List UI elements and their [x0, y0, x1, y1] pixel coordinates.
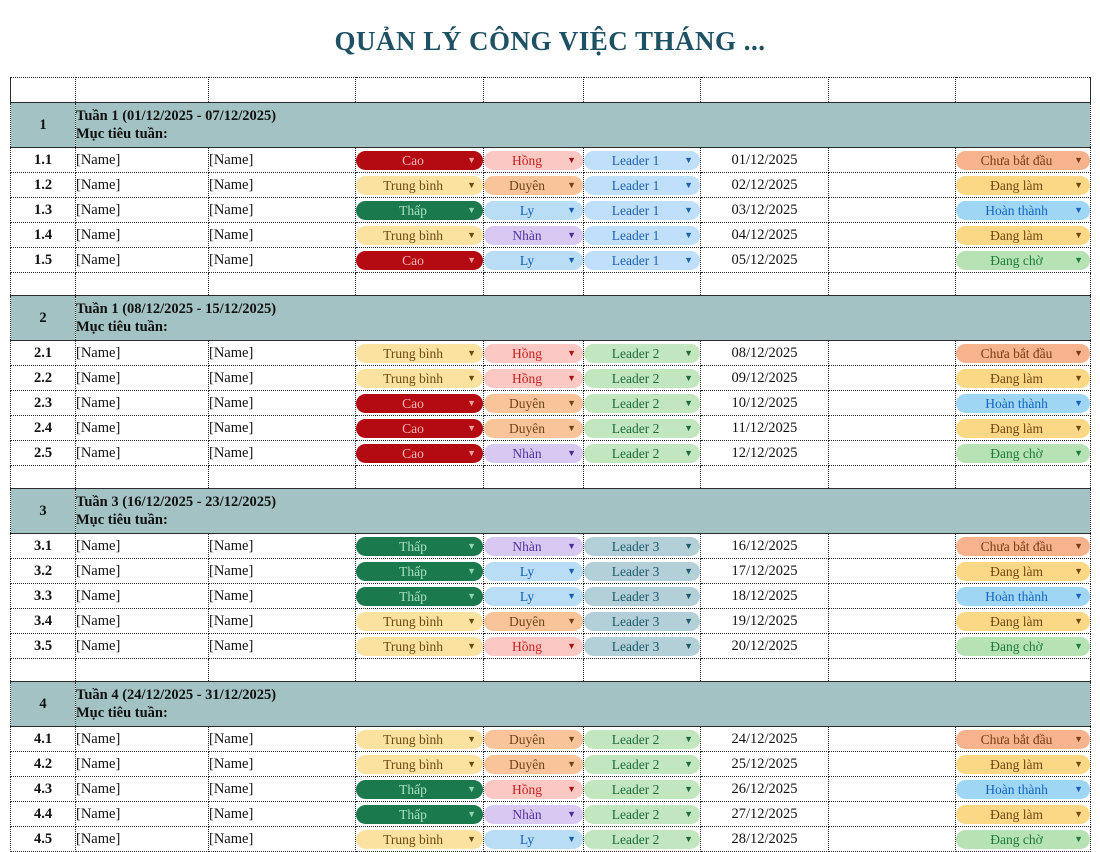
support-person-dropdown[interactable]: Leader 1▼ — [584, 226, 700, 245]
support-person-dropdown[interactable]: Leader 1▼ — [584, 201, 700, 220]
chevron-down-icon[interactable]: ▼ — [1070, 612, 1083, 631]
cell-start-date[interactable]: 16/12/2025 — [701, 534, 829, 559]
pic-dropdown[interactable]: Ly▼ — [484, 587, 583, 606]
pic-dropdown[interactable]: Nhàn▼ — [484, 805, 583, 824]
status-dropdown[interactable]: Đang làm▼ — [956, 176, 1090, 195]
status-dropdown[interactable]: Hoàn thành▼ — [956, 201, 1090, 220]
table-row[interactable]: 3.3[Name][Name]Thấp▼Ly▼Leader 3▼18/12/20… — [11, 584, 1091, 609]
chevron-down-icon[interactable]: ▼ — [563, 612, 576, 631]
status-dropdown[interactable]: Đang làm▼ — [956, 226, 1090, 245]
pic-dropdown[interactable]: Duyên▼ — [484, 394, 583, 413]
cell-end-date[interactable] — [829, 366, 956, 391]
chevron-down-icon[interactable]: ▼ — [463, 805, 476, 824]
chevron-down-icon[interactable]: ▼ — [680, 251, 693, 270]
priority-dropdown[interactable]: Thấp▼ — [356, 805, 483, 824]
chevron-down-icon[interactable]: ▼ — [563, 251, 576, 270]
chevron-down-icon[interactable]: ▼ — [563, 805, 576, 824]
cell-start-date[interactable]: 24/12/2025 — [701, 727, 829, 752]
cell-noi-dung[interactable]: [Name] — [209, 752, 356, 777]
cell-end-date[interactable] — [829, 609, 956, 634]
cell-end-date[interactable] — [829, 441, 956, 466]
cell-start-date[interactable]: 19/12/2025 — [701, 609, 829, 634]
table-row[interactable]: 2.4[Name][Name]Cao▼Duyên▼Leader 2▼11/12/… — [11, 416, 1091, 441]
priority-dropdown[interactable]: Trung bình▼ — [356, 612, 483, 631]
spacer-row — [11, 273, 1091, 296]
cell-hang-muc[interactable]: [Name] — [76, 727, 209, 752]
priority-dropdown[interactable]: Trung bình▼ — [356, 755, 483, 774]
cell-hang-muc[interactable]: [Name] — [76, 416, 209, 441]
cell-status: Đang chờ▼ — [956, 634, 1091, 659]
chevron-down-icon[interactable]: ▼ — [563, 419, 576, 438]
chevron-down-icon[interactable]: ▼ — [1070, 394, 1083, 413]
cell-hang-muc[interactable]: [Name] — [76, 827, 209, 852]
table-row[interactable]: 1.5[Name][Name]Cao▼Ly▼Leader 1▼05/12/202… — [11, 248, 1091, 273]
cell-end-date[interactable] — [829, 173, 956, 198]
cell-end-date[interactable] — [829, 534, 956, 559]
priority-dropdown[interactable]: Cao▼ — [356, 394, 483, 413]
cell-end-date[interactable] — [829, 559, 956, 584]
priority-dropdown[interactable]: Cao▼ — [356, 419, 483, 438]
priority-dropdown[interactable]: Cao▼ — [356, 151, 483, 170]
cell-hang-muc[interactable]: [Name] — [76, 609, 209, 634]
pic-dropdown[interactable]: Ly▼ — [484, 201, 583, 220]
spacer-cell — [956, 659, 1091, 682]
support-person-dropdown[interactable]: Leader 3▼ — [584, 537, 700, 556]
priority-dropdown[interactable]: Cao▼ — [356, 251, 483, 270]
cell-hang-muc[interactable]: [Name] — [76, 173, 209, 198]
chevron-down-icon[interactable]: ▼ — [463, 344, 476, 363]
chevron-down-icon[interactable]: ▼ — [680, 419, 693, 438]
cell-noi-dung[interactable]: [Name] — [209, 559, 356, 584]
status-dropdown[interactable]: Đang chờ▼ — [956, 251, 1090, 270]
cell-start-date[interactable]: 10/12/2025 — [701, 391, 829, 416]
cell-hang-muc[interactable]: [Name] — [76, 248, 209, 273]
status-dropdown[interactable]: Hoàn thành▼ — [956, 587, 1090, 606]
chevron-down-icon[interactable]: ▼ — [1070, 369, 1083, 388]
cell-noi-dung[interactable]: [Name] — [209, 777, 356, 802]
chevron-down-icon[interactable]: ▼ — [1070, 151, 1083, 170]
table-row[interactable]: 1.2[Name][Name]Trung bình▼Duyên▼Leader 1… — [11, 173, 1091, 198]
cell-end-date[interactable] — [829, 584, 956, 609]
status-dropdown[interactable]: Đang chờ▼ — [956, 637, 1090, 656]
cell-hang-muc[interactable]: [Name] — [76, 752, 209, 777]
cell-noi-dung[interactable]: [Name] — [209, 441, 356, 466]
support-person-dropdown[interactable]: Leader 1▼ — [584, 151, 700, 170]
chevron-down-icon[interactable]: ▼ — [1070, 637, 1083, 656]
chevron-down-icon[interactable]: ▼ — [680, 805, 693, 824]
cell-end-date[interactable] — [829, 341, 956, 366]
cell-noi-dung[interactable]: [Name] — [209, 416, 356, 441]
spacer-cell — [584, 466, 701, 489]
table-row[interactable]: 2.5[Name][Name]Cao▼Nhàn▼Leader 2▼12/12/2… — [11, 441, 1091, 466]
chevron-down-icon[interactable]: ▼ — [680, 201, 693, 220]
chevron-down-icon[interactable]: ▼ — [463, 755, 476, 774]
support-person-dropdown[interactable]: Leader 3▼ — [584, 562, 700, 581]
pic-dropdown-label: Duyên — [491, 755, 563, 774]
chevron-down-icon[interactable]: ▼ — [680, 730, 693, 749]
cell-start-date[interactable]: 11/12/2025 — [701, 416, 829, 441]
cell-start-date[interactable]: 01/12/2025 — [701, 148, 829, 173]
cell-noi-dung[interactable]: [Name] — [209, 727, 356, 752]
status-dropdown[interactable]: Đang chờ▼ — [956, 830, 1090, 849]
cell-noi-dung[interactable]: [Name] — [209, 198, 356, 223]
support-person-dropdown[interactable]: Leader 1▼ — [584, 176, 700, 195]
cell-hang-muc[interactable]: [Name] — [76, 223, 209, 248]
support-person-dropdown[interactable]: Leader 2▼ — [584, 780, 700, 799]
support-person-dropdown-label: Leader 1 — [591, 251, 680, 270]
priority-dropdown-label: Trung bình — [363, 226, 463, 245]
cell-start-date[interactable]: 17/12/2025 — [701, 559, 829, 584]
chevron-down-icon[interactable]: ▼ — [463, 562, 476, 581]
cell-start-date[interactable]: 03/12/2025 — [701, 198, 829, 223]
pic-dropdown[interactable]: Hồng▼ — [484, 344, 583, 363]
pic-dropdown[interactable]: Duyên▼ — [484, 730, 583, 749]
chevron-down-icon[interactable]: ▼ — [1070, 251, 1083, 270]
table-row[interactable]: 1.1[Name][Name]Cao▼Hồng▼Leader 1▼01/12/2… — [11, 148, 1091, 173]
chevron-down-icon[interactable]: ▼ — [1070, 344, 1083, 363]
support-person-dropdown[interactable]: Leader 2▼ — [584, 830, 700, 849]
cell-hang-muc[interactable]: [Name] — [76, 198, 209, 223]
pic-dropdown[interactable]: Nhàn▼ — [484, 226, 583, 245]
chevron-down-icon[interactable]: ▼ — [563, 637, 576, 656]
cell-start-date[interactable]: 27/12/2025 — [701, 802, 829, 827]
cell-start-date[interactable]: 02/12/2025 — [701, 173, 829, 198]
chevron-down-icon[interactable]: ▼ — [1070, 587, 1083, 606]
table-row[interactable]: 3.1[Name][Name]Thấp▼Nhàn▼Leader 3▼16/12/… — [11, 534, 1091, 559]
chevron-down-icon[interactable]: ▼ — [1070, 444, 1083, 463]
chevron-down-icon[interactable]: ▼ — [463, 226, 476, 245]
pic-dropdown[interactable]: Ly▼ — [484, 562, 583, 581]
chevron-down-icon[interactable]: ▼ — [680, 344, 693, 363]
cell-priority: Trung bình▼ — [356, 341, 484, 366]
table-row[interactable]: 2.3[Name][Name]Cao▼Duyên▼Leader 2▼10/12/… — [11, 391, 1091, 416]
chevron-down-icon[interactable]: ▼ — [463, 176, 476, 195]
support-person-dropdown[interactable]: Leader 3▼ — [584, 612, 700, 631]
pic-dropdown[interactable]: Hồng▼ — [484, 369, 583, 388]
chevron-down-icon[interactable]: ▼ — [680, 612, 693, 631]
column-header-stt[interactable]: STT — [11, 78, 76, 103]
cell-start-date[interactable]: 28/12/2025 — [701, 827, 829, 852]
support-person-dropdown[interactable]: Leader 2▼ — [584, 344, 700, 363]
cell-hang-muc[interactable]: [Name] — [76, 634, 209, 659]
cell-start-date[interactable]: 18/12/2025 — [701, 584, 829, 609]
table-row[interactable]: 4.1[Name][Name]Trung bình▼Duyên▼Leader 2… — [11, 727, 1091, 752]
cell-end-date[interactable] — [829, 248, 956, 273]
chevron-down-icon[interactable]: ▼ — [563, 562, 576, 581]
cell-start-date[interactable]: 05/12/2025 — [701, 248, 829, 273]
chevron-down-icon[interactable]: ▼ — [1070, 730, 1083, 749]
pic-dropdown-label: Nhàn — [491, 805, 563, 824]
chevron-down-icon[interactable]: ▼ — [680, 755, 693, 774]
chevron-down-icon[interactable]: ▼ — [463, 151, 476, 170]
column-header-muc-do-uu-tien[interactable]: Mức độ ưu tiên — [356, 78, 484, 103]
cell-hang-muc[interactable]: [Name] — [76, 584, 209, 609]
cell-end-date[interactable] — [829, 148, 956, 173]
chevron-down-icon[interactable]: ▼ — [463, 394, 476, 413]
priority-dropdown[interactable]: Trung bình▼ — [356, 730, 483, 749]
chevron-down-icon[interactable]: ▼ — [563, 226, 576, 245]
week-title-cell[interactable]: Tuần 1 (08/12/2025 - 15/12/2025)Mục tiêu… — [76, 296, 1091, 341]
chevron-down-icon[interactable]: ▼ — [680, 151, 693, 170]
pic-dropdown[interactable]: Ly▼ — [484, 830, 583, 849]
chevron-down-icon[interactable]: ▼ — [563, 369, 576, 388]
cell-end-date[interactable] — [829, 752, 956, 777]
priority-dropdown[interactable]: Trung bình▼ — [356, 226, 483, 245]
cell-noi-dung[interactable]: [Name] — [209, 827, 356, 852]
chevron-down-icon[interactable]: ▼ — [563, 830, 576, 849]
chevron-down-icon[interactable]: ▼ — [680, 369, 693, 388]
support-person-dropdown-label: Leader 2 — [591, 755, 680, 774]
chevron-down-icon[interactable]: ▼ — [680, 176, 693, 195]
support-person-dropdown-label: Leader 1 — [591, 176, 680, 195]
chevron-down-icon[interactable]: ▼ — [463, 419, 476, 438]
table-row[interactable]: 1.4[Name][Name]Trung bình▼Nhàn▼Leader 1▼… — [11, 223, 1091, 248]
chevron-down-icon[interactable]: ▼ — [1070, 201, 1083, 220]
status-dropdown[interactable]: Đang làm▼ — [956, 369, 1090, 388]
cell-start-date[interactable]: 09/12/2025 — [701, 366, 829, 391]
status-dropdown[interactable]: Hoàn thành▼ — [956, 394, 1090, 413]
chevron-down-icon[interactable]: ▼ — [680, 394, 693, 413]
support-person-dropdown[interactable]: Leader 1▼ — [584, 251, 700, 270]
chevron-down-icon[interactable]: ▼ — [680, 830, 693, 849]
chevron-down-icon[interactable]: ▼ — [563, 537, 576, 556]
chevron-down-icon[interactable]: ▼ — [463, 444, 476, 463]
support-person-dropdown[interactable]: Leader 3▼ — [584, 587, 700, 606]
table-row[interactable]: 2.2[Name][Name]Trung bình▼Hồng▼Leader 2▼… — [11, 366, 1091, 391]
support-person-dropdown[interactable]: Leader 2▼ — [584, 805, 700, 824]
support-person-dropdown-label: Leader 1 — [591, 151, 680, 170]
cell-noi-dung[interactable]: [Name] — [209, 609, 356, 634]
priority-dropdown[interactable]: Thấp▼ — [356, 587, 483, 606]
column-header-noi-dung[interactable]: Nội dung công việc — [209, 78, 356, 103]
column-header-nguoi-ho-tro[interactable]: Người hỗ trợ — [584, 78, 701, 103]
cell-noi-dung[interactable]: [Name] — [209, 173, 356, 198]
cell-priority: Thấp▼ — [356, 802, 484, 827]
cell-end-date[interactable] — [829, 198, 956, 223]
column-header-ngay-bat-dau[interactable]: Ngày bắt đầu — [701, 78, 829, 103]
chevron-down-icon[interactable]: ▼ — [563, 730, 576, 749]
priority-dropdown[interactable]: Thấp▼ — [356, 201, 483, 220]
chevron-down-icon[interactable]: ▼ — [463, 251, 476, 270]
pic-dropdown[interactable]: Ly▼ — [484, 251, 583, 270]
table-row[interactable]: 2.1[Name][Name]Trung bình▼Hồng▼Leader 2▼… — [11, 341, 1091, 366]
priority-dropdown[interactable]: Trung bình▼ — [356, 369, 483, 388]
status-dropdown[interactable]: Đang làm▼ — [956, 419, 1090, 438]
chevron-down-icon[interactable]: ▼ — [563, 587, 576, 606]
cell-start-date[interactable]: 26/12/2025 — [701, 777, 829, 802]
cell-noi-dung[interactable]: [Name] — [209, 148, 356, 173]
chevron-down-icon[interactable]: ▼ — [563, 201, 576, 220]
cell-end-date[interactable] — [829, 634, 956, 659]
chevron-down-icon[interactable]: ▼ — [563, 176, 576, 195]
cell-status: Đang làm▼ — [956, 609, 1091, 634]
chevron-down-icon[interactable]: ▼ — [680, 537, 693, 556]
priority-dropdown[interactable]: Trung bình▼ — [356, 176, 483, 195]
column-header-trang-thai[interactable]: Trạng thái — [956, 78, 1091, 103]
chevron-down-icon[interactable]: ▼ — [563, 444, 576, 463]
pic-dropdown[interactable]: Duyên▼ — [484, 419, 583, 438]
chevron-down-icon[interactable]: ▼ — [563, 755, 576, 774]
pic-dropdown[interactable]: Duyên▼ — [484, 755, 583, 774]
cell-noi-dung[interactable]: [Name] — [209, 223, 356, 248]
cell-end-date[interactable] — [829, 827, 956, 852]
cell-hang-muc[interactable]: [Name] — [76, 802, 209, 827]
table-row[interactable]: 3.4[Name][Name]Trung bình▼Duyên▼Leader 3… — [11, 609, 1091, 634]
chevron-down-icon[interactable]: ▼ — [1070, 755, 1083, 774]
cell-hang-muc[interactable]: [Name] — [76, 441, 209, 466]
chevron-down-icon[interactable]: ▼ — [463, 587, 476, 606]
priority-dropdown[interactable]: Trung bình▼ — [356, 344, 483, 363]
support-person-dropdown[interactable]: Leader 2▼ — [584, 394, 700, 413]
spacer-row — [11, 659, 1091, 682]
chevron-down-icon[interactable]: ▼ — [563, 344, 576, 363]
chevron-down-icon[interactable]: ▼ — [1070, 176, 1083, 195]
cell-noi-dung[interactable]: [Name] — [209, 366, 356, 391]
cell-noi-dung[interactable]: [Name] — [209, 802, 356, 827]
chevron-down-icon[interactable]: ▼ — [463, 201, 476, 220]
cell-end-date[interactable] — [829, 223, 956, 248]
chevron-down-icon[interactable]: ▼ — [463, 830, 476, 849]
table-row[interactable]: 4.5[Name][Name]Trung bình▼Ly▼Leader 2▼28… — [11, 827, 1091, 852]
week-title-cell[interactable]: Tuần 1 (01/12/2025 - 07/12/2025)Mục tiêu… — [76, 103, 1091, 148]
cell-end-date[interactable] — [829, 727, 956, 752]
chevron-down-icon[interactable]: ▼ — [563, 151, 576, 170]
priority-dropdown-label: Thấp — [363, 805, 463, 824]
table-row[interactable]: 3.2[Name][Name]Thấp▼Ly▼Leader 3▼17/12/20… — [11, 559, 1091, 584]
status-dropdown[interactable]: Đang làm▼ — [956, 755, 1090, 774]
cell-noi-dung[interactable]: [Name] — [209, 248, 356, 273]
week-title-cell[interactable]: Tuần 3 (16/12/2025 - 23/12/2025)Mục tiêu… — [76, 489, 1091, 534]
cell-leader: Leader 3▼ — [584, 584, 701, 609]
chevron-down-icon[interactable]: ▼ — [680, 780, 693, 799]
priority-dropdown[interactable]: Thấp▼ — [356, 562, 483, 581]
chevron-down-icon[interactable]: ▼ — [680, 587, 693, 606]
cell-start-date[interactable]: 08/12/2025 — [701, 341, 829, 366]
pic-dropdown-label: Ly — [491, 587, 563, 606]
status-dropdown[interactable]: Đang làm▼ — [956, 612, 1090, 631]
pic-dropdown[interactable]: Hồng▼ — [484, 780, 583, 799]
chevron-down-icon[interactable]: ▼ — [463, 730, 476, 749]
priority-dropdown-label: Trung bình — [363, 730, 463, 749]
column-header-pic[interactable]: PIC — [484, 78, 584, 103]
cell-end-date[interactable] — [829, 802, 956, 827]
priority-dropdown[interactable]: Trung bình▼ — [356, 830, 483, 849]
pic-dropdown[interactable]: Hồng▼ — [484, 637, 583, 656]
chevron-down-icon[interactable]: ▼ — [1070, 780, 1083, 799]
status-dropdown[interactable]: Đang chờ▼ — [956, 444, 1090, 463]
status-dropdown[interactable]: Chưa bắt đầu▼ — [956, 344, 1090, 363]
cell-noi-dung[interactable]: [Name] — [209, 584, 356, 609]
status-dropdown[interactable]: Chưa bắt đầu▼ — [956, 537, 1090, 556]
chevron-down-icon[interactable]: ▼ — [1070, 537, 1083, 556]
cell-end-date[interactable] — [829, 777, 956, 802]
support-person-dropdown[interactable]: Leader 2▼ — [584, 444, 700, 463]
cell-hang-muc[interactable]: [Name] — [76, 534, 209, 559]
cell-hang-muc[interactable]: [Name] — [76, 341, 209, 366]
cell-hang-muc[interactable]: [Name] — [76, 391, 209, 416]
status-dropdown[interactable]: Đang làm▼ — [956, 562, 1090, 581]
chevron-down-icon[interactable]: ▼ — [463, 780, 476, 799]
cell-end-date[interactable] — [829, 416, 956, 441]
cell-pic: Ly▼ — [484, 248, 584, 273]
chevron-down-icon[interactable]: ▼ — [563, 394, 576, 413]
table-row[interactable]: 4.2[Name][Name]Trung bình▼Duyên▼Leader 2… — [11, 752, 1091, 777]
cell-noi-dung[interactable]: [Name] — [209, 634, 356, 659]
pic-dropdown[interactable]: Duyên▼ — [484, 176, 583, 195]
priority-dropdown[interactable]: Cao▼ — [356, 444, 483, 463]
cell-start-date[interactable]: 20/12/2025 — [701, 634, 829, 659]
status-dropdown-label: Đang làm — [963, 369, 1070, 388]
chevron-down-icon[interactable]: ▼ — [563, 780, 576, 799]
cell-end-date[interactable] — [829, 391, 956, 416]
support-person-dropdown[interactable]: Leader 2▼ — [584, 369, 700, 388]
cell-start-date[interactable]: 25/12/2025 — [701, 752, 829, 777]
pic-dropdown[interactable]: Hồng▼ — [484, 151, 583, 170]
chevron-down-icon[interactable]: ▼ — [680, 562, 693, 581]
status-dropdown[interactable]: Hoàn thành▼ — [956, 780, 1090, 799]
priority-dropdown-label: Trung bình — [363, 755, 463, 774]
column-header-hang-muc[interactable]: Hạng mục — [76, 78, 209, 103]
pic-dropdown[interactable]: Duyên▼ — [484, 612, 583, 631]
spacer-cell — [76, 466, 209, 489]
support-person-dropdown[interactable]: Leader 3▼ — [584, 637, 700, 656]
chevron-down-icon[interactable]: ▼ — [1070, 419, 1083, 438]
support-person-dropdown[interactable]: Leader 2▼ — [584, 730, 700, 749]
status-dropdown-label: Đang chờ — [963, 251, 1070, 270]
priority-dropdown[interactable]: Thấp▼ — [356, 780, 483, 799]
status-dropdown[interactable]: Chưa bắt đầu▼ — [956, 151, 1090, 170]
priority-dropdown[interactable]: Thấp▼ — [356, 537, 483, 556]
support-person-dropdown-label: Leader 3 — [591, 562, 680, 581]
cell-leader: Leader 2▼ — [584, 802, 701, 827]
table-row[interactable]: 1.3[Name][Name]Thấp▼Ly▼Leader 1▼03/12/20… — [11, 198, 1091, 223]
chevron-down-icon[interactable]: ▼ — [680, 444, 693, 463]
chevron-down-icon[interactable]: ▼ — [1070, 226, 1083, 245]
cell-noi-dung[interactable]: [Name] — [209, 341, 356, 366]
status-dropdown[interactable]: Đang làm▼ — [956, 805, 1090, 824]
cell-start-date[interactable]: 04/12/2025 — [701, 223, 829, 248]
cell-start-date[interactable]: 12/12/2025 — [701, 441, 829, 466]
table-row[interactable]: 4.4[Name][Name]Thấp▼Nhàn▼Leader 2▼27/12/… — [11, 802, 1091, 827]
chevron-down-icon[interactable]: ▼ — [463, 537, 476, 556]
chevron-down-icon[interactable]: ▼ — [463, 369, 476, 388]
chevron-down-icon[interactable]: ▼ — [1070, 830, 1083, 849]
chevron-down-icon[interactable]: ▼ — [1070, 562, 1083, 581]
week-title-cell[interactable]: Tuần 4 (24/12/2025 - 31/12/2025)Mục tiêu… — [76, 682, 1091, 727]
cell-hang-muc[interactable]: [Name] — [76, 559, 209, 584]
chevron-down-icon[interactable]: ▼ — [463, 612, 476, 631]
cell-hang-muc[interactable]: [Name] — [76, 148, 209, 173]
chevron-down-icon[interactable]: ▼ — [680, 226, 693, 245]
support-person-dropdown[interactable]: Leader 2▼ — [584, 419, 700, 438]
chevron-down-icon[interactable]: ▼ — [680, 637, 693, 656]
cell-noi-dung[interactable]: [Name] — [209, 391, 356, 416]
table-row[interactable]: 3.5[Name][Name]Trung bình▼Hồng▼Leader 3▼… — [11, 634, 1091, 659]
pic-dropdown[interactable]: Nhàn▼ — [484, 537, 583, 556]
status-dropdown[interactable]: Chưa bắt đầu▼ — [956, 730, 1090, 749]
support-person-dropdown[interactable]: Leader 2▼ — [584, 755, 700, 774]
chevron-down-icon[interactable]: ▼ — [463, 637, 476, 656]
cell-noi-dung[interactable]: [Name] — [209, 534, 356, 559]
cell-pic: Hồng▼ — [484, 341, 584, 366]
chevron-down-icon[interactable]: ▼ — [1070, 805, 1083, 824]
cell-hang-muc[interactable]: [Name] — [76, 366, 209, 391]
priority-dropdown[interactable]: Trung bình▼ — [356, 637, 483, 656]
pic-dropdown[interactable]: Nhàn▼ — [484, 444, 583, 463]
column-header-ngay-ket-thuc[interactable]: Ngày kết thúc — [829, 78, 956, 103]
cell-hang-muc[interactable]: [Name] — [76, 777, 209, 802]
table-row[interactable]: 4.3[Name][Name]Thấp▼Hồng▼Leader 2▼26/12/… — [11, 777, 1091, 802]
